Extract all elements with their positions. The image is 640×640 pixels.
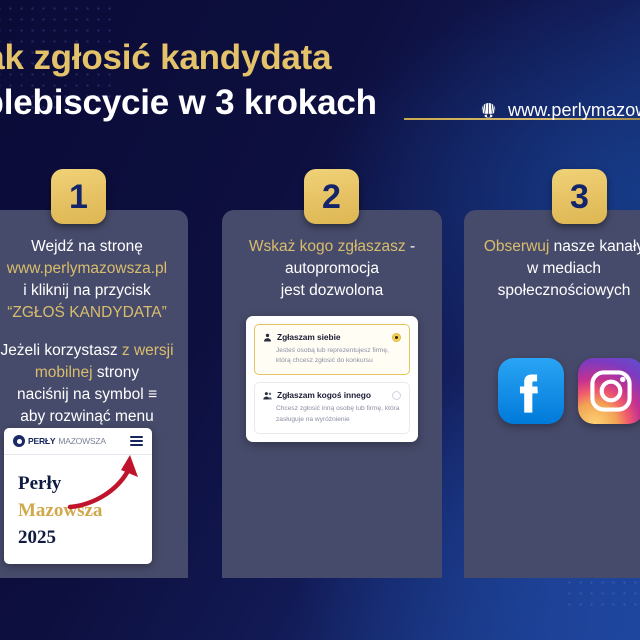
shell-pearl-logo-icon <box>478 100 499 121</box>
step-3-text-block-1: Obserwuj nasze kanaływ mediachspołecznoś… <box>478 236 640 302</box>
text-segment: Wskaż kogo zgłaszasz <box>249 238 406 255</box>
text-line: mobilnej strony <box>0 362 174 384</box>
option-description: Jesteś osobą lub reprezentujesz firmę, k… <box>263 346 401 366</box>
pearl-mark-icon <box>13 435 25 447</box>
text-segment: jest dozwolona <box>281 282 384 299</box>
text-segment: autopromocja <box>285 260 379 277</box>
step-2-text-block-1: Wskaż kogo zgłaszasz -autopromocjajest d… <box>236 236 428 302</box>
facebook-icon[interactable] <box>498 358 564 424</box>
text-segment: i kliknij na przycisk <box>23 282 150 299</box>
text-line: Obserwuj nasze kanały <box>478 236 640 258</box>
infographic-slide: Jak zgłosić kandydata w plebiscycie w 3 … <box>0 0 640 640</box>
text-line: “ZGŁOŚ KANDYDATA” <box>0 302 174 324</box>
website-link[interactable]: www.perlymazowsza.pl <box>478 100 640 121</box>
text-segment: “ZGŁOŚ KANDYDATA” <box>7 304 167 321</box>
text-segment: Jeżeli korzystasz <box>0 342 121 359</box>
text-segment: z wersji <box>122 342 174 359</box>
text-line: Jeżeli korzystasz z wersji <box>0 340 174 362</box>
single-person-icon <box>263 333 272 342</box>
instagram-icon[interactable] <box>578 358 640 424</box>
text-segment: Obserwuj <box>484 238 549 255</box>
text-line: www.perlymazowsza.pl <box>0 258 174 280</box>
phone-mockup: PERŁY MAZOWSZA Perły Mazowsza 2025 <box>4 428 152 564</box>
option-title: Zgłaszam siebie <box>277 332 341 342</box>
text-segment: www.perlymazowsza.pl <box>7 260 167 277</box>
text-segment: nasze kanały <box>549 238 640 255</box>
page-title-line-1: Jak zgłosić kandydata <box>0 38 331 78</box>
step-badge-2: 2 <box>304 169 359 224</box>
selection-card: Zgłaszam siebie Jesteś osobą lub repreze… <box>246 316 418 442</box>
option-header: Zgłaszam kogoś innego <box>263 390 401 400</box>
text-line: w mediach <box>478 258 640 280</box>
text-line: naciśnij na symbol ≡ <box>0 384 174 406</box>
text-segment: mobilnej <box>35 364 93 381</box>
curved-arrow-icon <box>64 445 150 519</box>
text-segment: aby rozwinąć menu <box>20 408 154 425</box>
radio-button-selected[interactable] <box>392 333 401 342</box>
step-1-text-block-2: Jeżeli korzystasz z wersjimobilnej stron… <box>0 340 174 428</box>
social-icons-row <box>498 358 640 424</box>
step-badge-1: 1 <box>51 169 106 224</box>
text-line: aby rozwinąć menu <box>0 406 174 428</box>
option-title: Zgłaszam kogoś innego <box>277 390 371 400</box>
option-description: Chcesz zgłosić inną osobę lub firmę, któ… <box>263 404 401 424</box>
text-segment: w mediach <box>527 260 601 277</box>
text-segment: naciśnij na symbol ≡ <box>17 386 157 403</box>
phone-content: Perły Mazowsza 2025 <box>4 455 152 552</box>
two-people-icon <box>263 391 272 400</box>
option-header: Zgłaszam siebie <box>263 332 401 342</box>
text-segment: - <box>406 238 415 255</box>
text-line: Wejdź na stronę <box>0 236 174 258</box>
text-segment: społecznościowych <box>498 282 631 299</box>
text-line: społecznościowych <box>478 280 640 302</box>
website-url-text: www.perlymazowsza.pl <box>508 100 640 121</box>
text-segment: strony <box>93 364 140 381</box>
text-line: Wskaż kogo zgłaszasz - <box>236 236 428 258</box>
phone-headline-3: 2025 <box>18 525 152 552</box>
text-line: autopromocja <box>236 258 428 280</box>
option-zglaszam-siebie[interactable]: Zgłaszam siebie Jesteś osobą lub repreze… <box>254 324 410 375</box>
option-zglaszam-kogos-innego[interactable]: Zgłaszam kogoś innego Chcesz zgłosić inn… <box>254 382 410 433</box>
page-title-line-2: w plebiscycie w 3 krokach <box>0 83 377 123</box>
text-segment: Wejdź na stronę <box>31 238 143 255</box>
text-line: jest dozwolona <box>236 280 428 302</box>
text-line: i kliknij na przycisk <box>0 280 174 302</box>
step-badge-3: 3 <box>552 169 607 224</box>
phone-brand-bold: PERŁY <box>28 436 55 446</box>
step-1-text-block-1: Wejdź na stronęwww.perlymazowsza.pli kli… <box>0 236 174 324</box>
